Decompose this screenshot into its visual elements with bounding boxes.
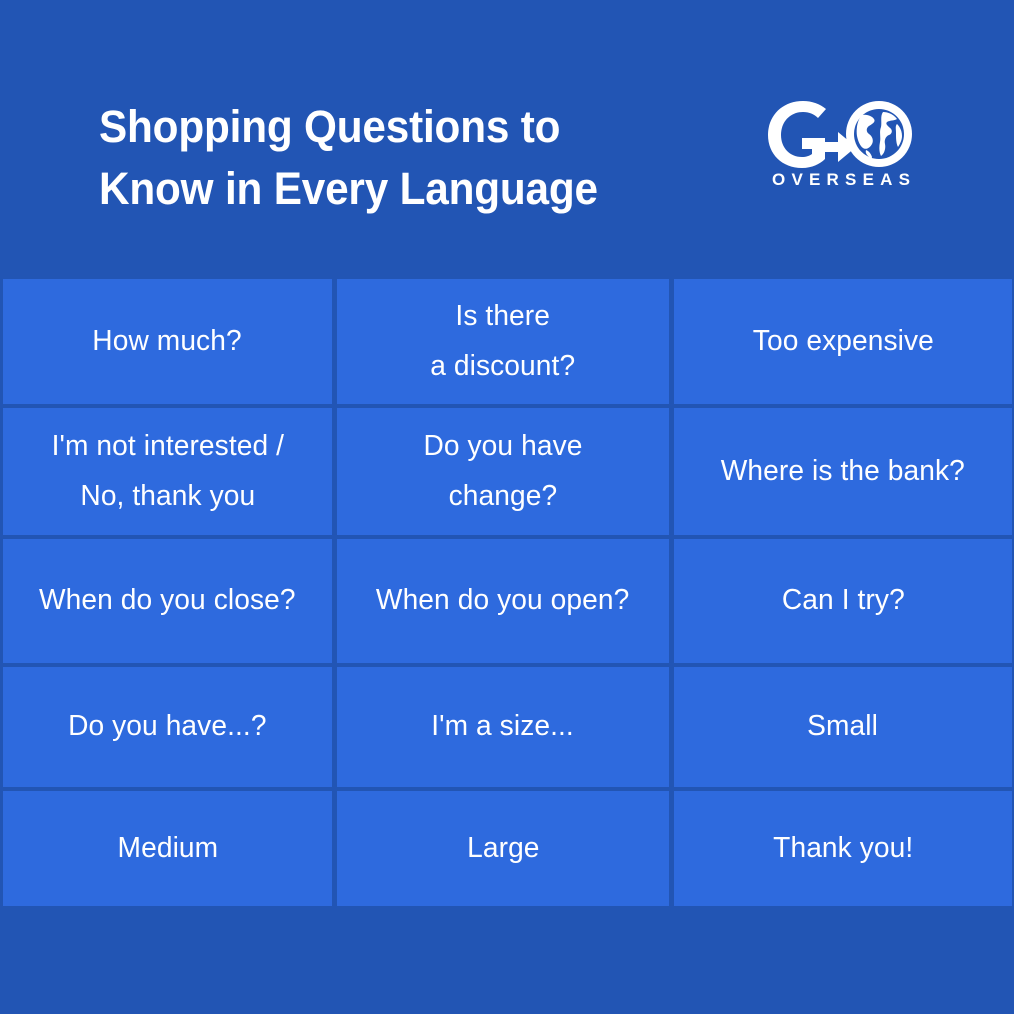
brand-logo[interactable]: OVERSEAS: [762, 98, 920, 198]
grid-cell-label: Too expensive: [752, 317, 933, 367]
go-globe-logo-icon: [762, 98, 920, 170]
grid-cell[interactable]: How much?: [0, 275, 337, 408]
grid-cell-label: Small: [808, 702, 879, 752]
grid-cell-label: Large: [467, 824, 539, 874]
grid-cell-label: When do you open?: [376, 576, 629, 626]
grid-cell-label: Where is the bank?: [721, 447, 965, 497]
grid-cell[interactable]: Too expensive: [674, 275, 1014, 408]
grid-cell[interactable]: I'm a size...: [337, 667, 674, 791]
grid-cell-label: Do you have...?: [68, 702, 267, 752]
grid-cell[interactable]: Do you have...?: [0, 667, 337, 791]
grid-cell-label: Is there a discount?: [431, 292, 576, 392]
grid-cell[interactable]: Where is the bank?: [674, 408, 1014, 539]
grid-cell[interactable]: Is there a discount?: [337, 275, 674, 408]
grid-cell[interactable]: Large: [337, 791, 674, 906]
grid-cell[interactable]: I'm not interested / No, thank you: [0, 408, 337, 539]
grid-cell[interactable]: When do you close?: [0, 539, 337, 667]
grid-cell-label: I'm a size...: [432, 702, 575, 752]
grid-cell[interactable]: Do you have change?: [337, 408, 674, 539]
grid-cell-label: Can I try?: [782, 576, 905, 626]
grid-cell[interactable]: Can I try?: [674, 539, 1014, 667]
grid-cell-label: Thank you!: [773, 824, 913, 874]
header-banner: Shopping Questions to Know in Every Lang…: [0, 0, 1014, 275]
logo-wordmark: OVERSEAS: [762, 170, 920, 190]
grid-cell[interactable]: When do you open?: [337, 539, 674, 667]
phrase-grid: How much? Is there a discount? Too expen…: [0, 275, 1014, 906]
grid-cell[interactable]: Small: [674, 667, 1014, 791]
grid-cell-label: How much?: [93, 317, 242, 367]
grid-cell-label: When do you close?: [39, 576, 296, 626]
grid-cell-label: Medium: [117, 824, 218, 874]
grid-cell-label: Do you have change?: [423, 422, 582, 522]
grid-cell[interactable]: Thank you!: [674, 791, 1014, 906]
grid-cell[interactable]: Medium: [0, 791, 337, 906]
grid-cell-label: I'm not interested / No, thank you: [51, 422, 283, 522]
page-title: Shopping Questions to Know in Every Lang…: [99, 96, 682, 220]
